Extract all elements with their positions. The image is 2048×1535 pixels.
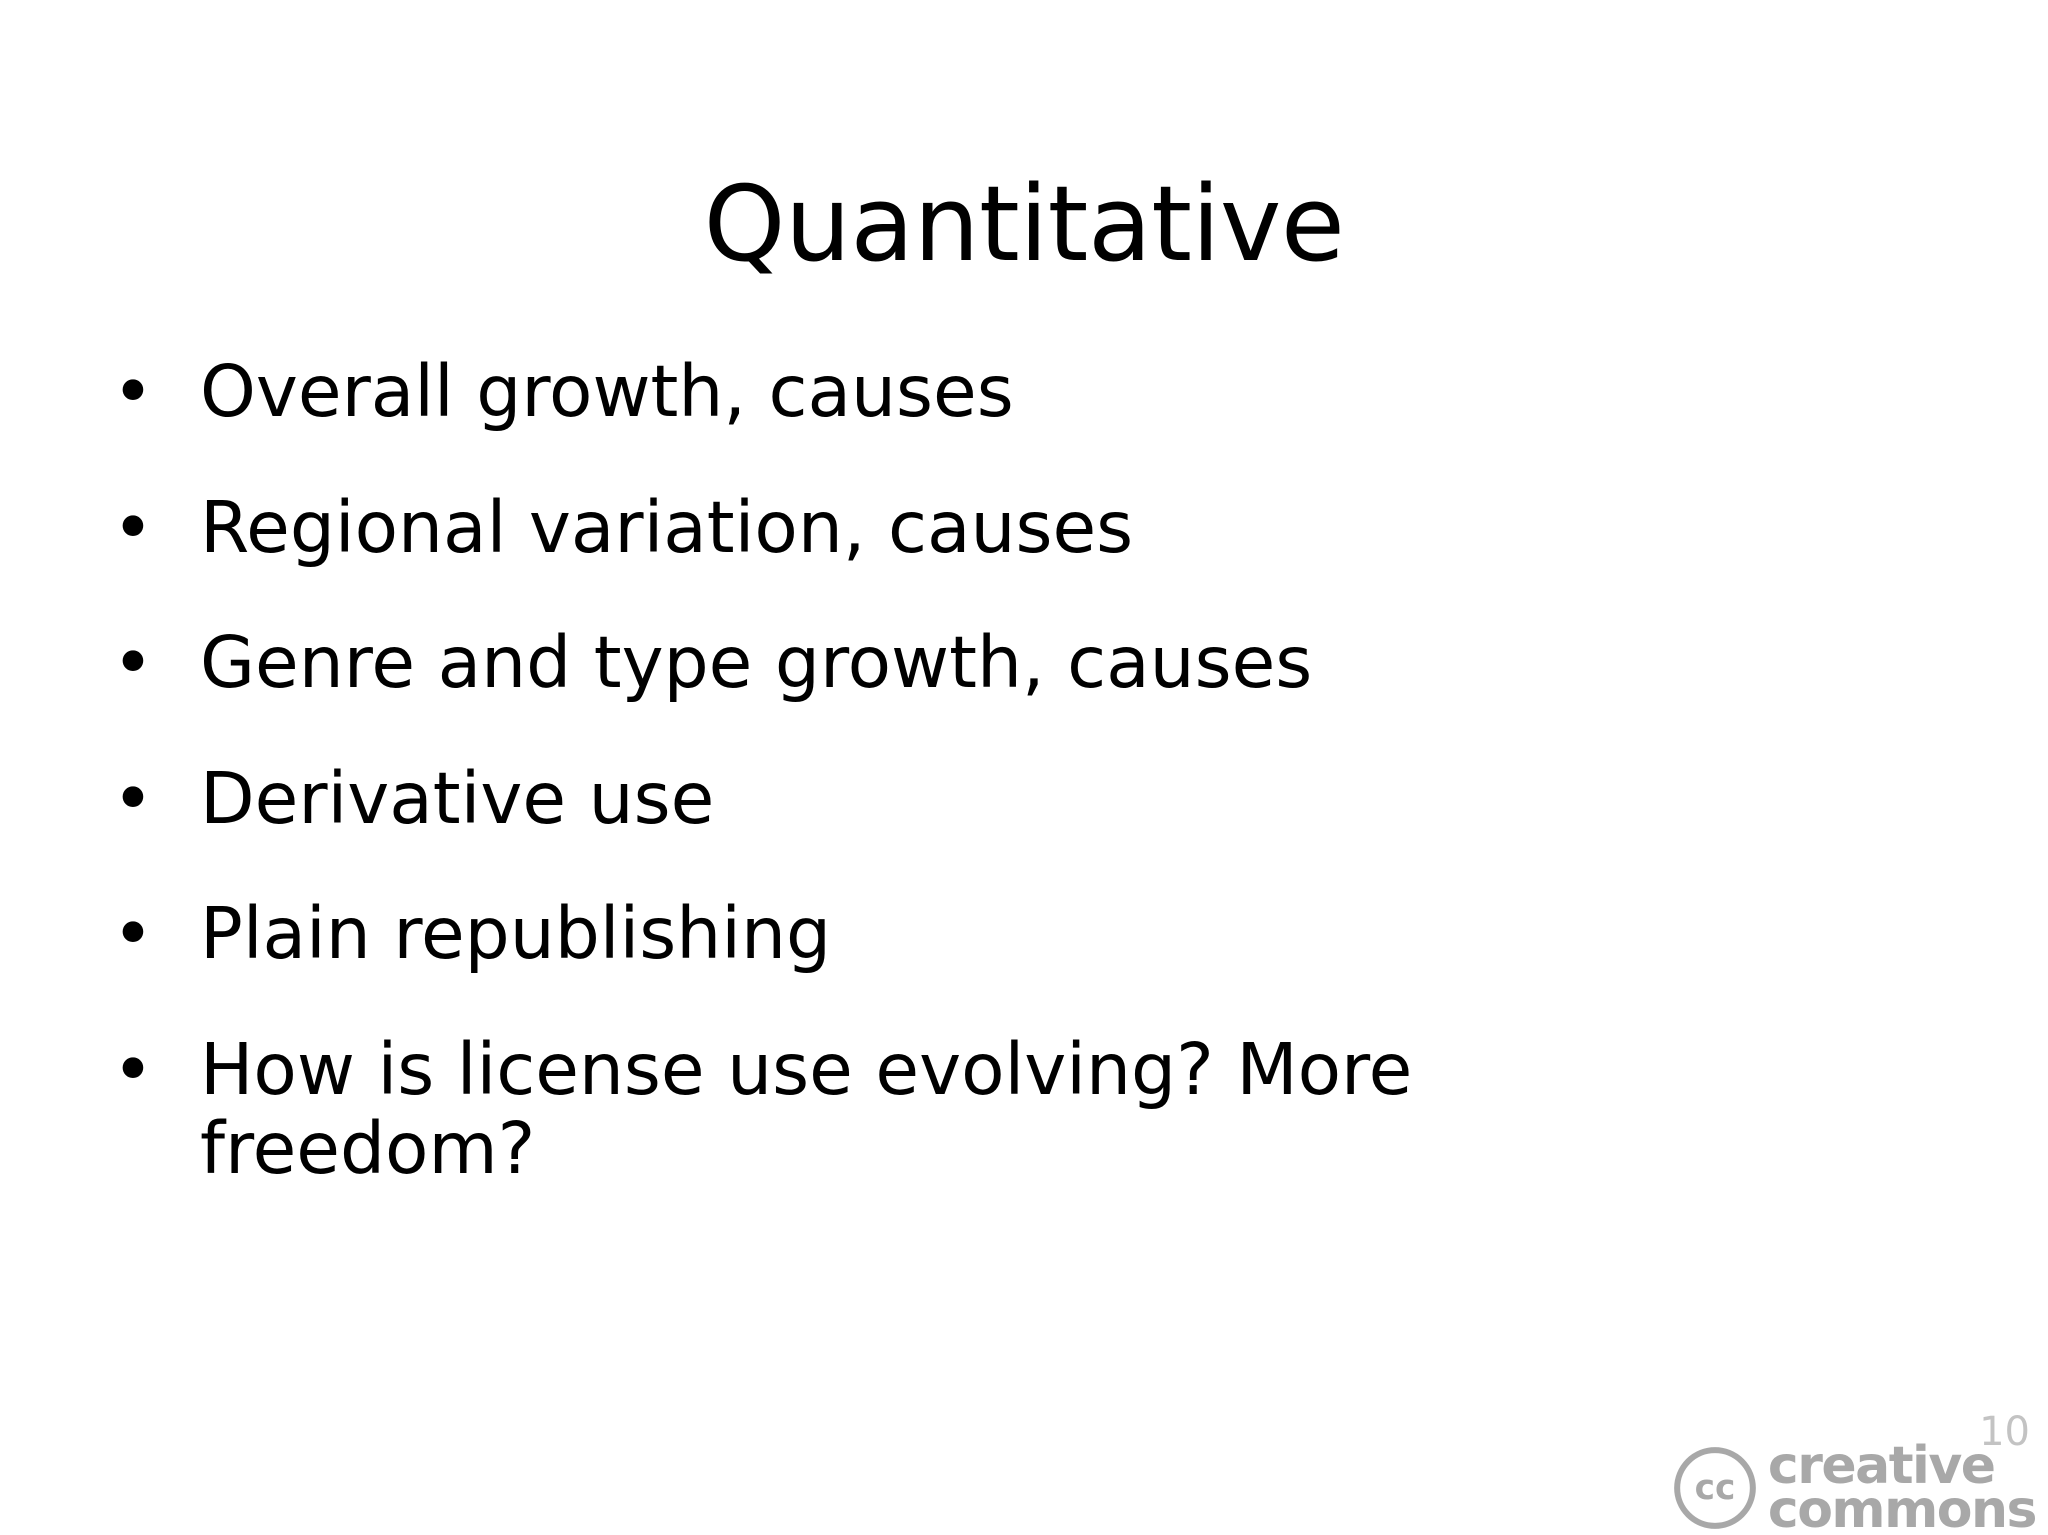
cc-wordmark: creative commons bbox=[1768, 1444, 2036, 1533]
list-item-label: Regional variation, causes bbox=[200, 488, 1700, 568]
list-item: • Overall growth, causes bbox=[96, 352, 1816, 432]
bullet-icon: • bbox=[112, 1030, 148, 1110]
list-item-label: Derivative use bbox=[200, 759, 1700, 839]
list-item: • Derivative use bbox=[96, 759, 1816, 839]
bullet-icon: • bbox=[112, 759, 148, 839]
svg-text:cc: cc bbox=[1694, 1468, 1735, 1508]
list-item: • How is license use evolving? More free… bbox=[96, 1030, 1816, 1189]
bullet-icon: • bbox=[112, 488, 148, 568]
bullet-icon: • bbox=[112, 894, 148, 974]
list-item: • Genre and type growth, causes bbox=[96, 623, 1816, 703]
bullet-icon: • bbox=[112, 623, 148, 703]
list-item-label: Genre and type growth, causes bbox=[200, 623, 1700, 703]
list-item: • Regional variation, causes bbox=[96, 488, 1816, 568]
bullet-icon: • bbox=[112, 352, 148, 432]
cc-wordmark-line-2: commons bbox=[1768, 1488, 2036, 1533]
list-item-label: Overall growth, causes bbox=[200, 352, 1700, 432]
list-item-label: How is license use evolving? More freedo… bbox=[200, 1030, 1700, 1189]
cc-badge-icon: cc bbox=[1672, 1445, 1758, 1531]
page-title: Quantitative bbox=[0, 166, 2048, 282]
list-item: • Plain republishing bbox=[96, 894, 1816, 974]
creative-commons-logo: cc creative commons bbox=[1672, 1444, 2036, 1533]
list-item-label: Plain republishing bbox=[200, 894, 1700, 974]
bullet-list: • Overall growth, causes • Regional vari… bbox=[96, 352, 1816, 1189]
presentation-slide: Quantitative • Overall growth, causes • … bbox=[0, 0, 2048, 1535]
